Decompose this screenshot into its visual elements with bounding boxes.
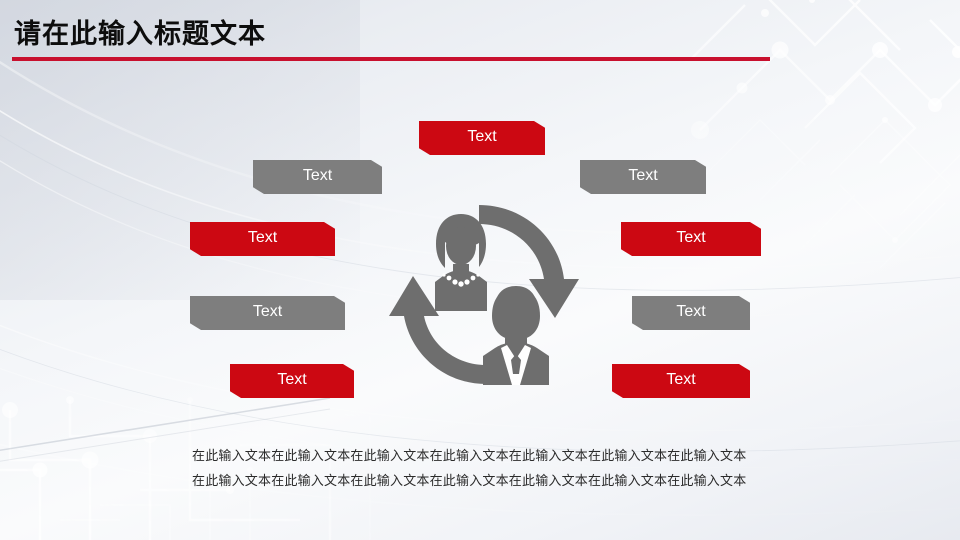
body-line-1: 在此输入文本在此输入文本在此输入文本在此输入文本在此输入文本在此输入文本在此输入… [192, 443, 802, 468]
tag-label: Text [676, 229, 705, 246]
tag-bottom-right[interactable]: Text [612, 364, 750, 398]
title-underline-rule [12, 57, 770, 61]
people-cycle-diagram [383, 196, 597, 392]
tag-lower-left[interactable]: Text [190, 296, 345, 330]
tag-label: Text [253, 303, 282, 320]
page-title: 请在此输入标题文本 [14, 18, 794, 50]
tag-mid-left[interactable]: Text [190, 222, 335, 256]
female-person-icon [435, 214, 487, 311]
body-paragraph: 在此输入文本在此输入文本在此输入文本在此输入文本在此输入文本在此输入文本在此输入… [192, 443, 802, 493]
tag-label: Text [248, 229, 277, 246]
tag-label: Text [666, 371, 695, 388]
page-title-text: 请在此输入标题文本 [14, 18, 794, 50]
tag-label: Text [467, 128, 496, 145]
tag-label: Text [676, 303, 705, 320]
tag-lower-right[interactable]: Text [632, 296, 750, 330]
tag-top-center[interactable]: Text [419, 121, 545, 155]
slide-canvas: 请在此输入标题文本 [0, 0, 960, 540]
tag-upper-left[interactable]: Text [253, 160, 382, 194]
tag-upper-right[interactable]: Text [580, 160, 706, 194]
tag-mid-right[interactable]: Text [621, 222, 761, 256]
body-line-2: 在此输入文本在此输入文本在此输入文本在此输入文本在此输入文本在此输入文本在此输入… [192, 468, 802, 493]
tag-label: Text [303, 167, 332, 184]
tag-bottom-left[interactable]: Text [230, 364, 354, 398]
tag-label: Text [277, 371, 306, 388]
tag-label: Text [628, 167, 657, 184]
male-person-icon [483, 286, 549, 385]
